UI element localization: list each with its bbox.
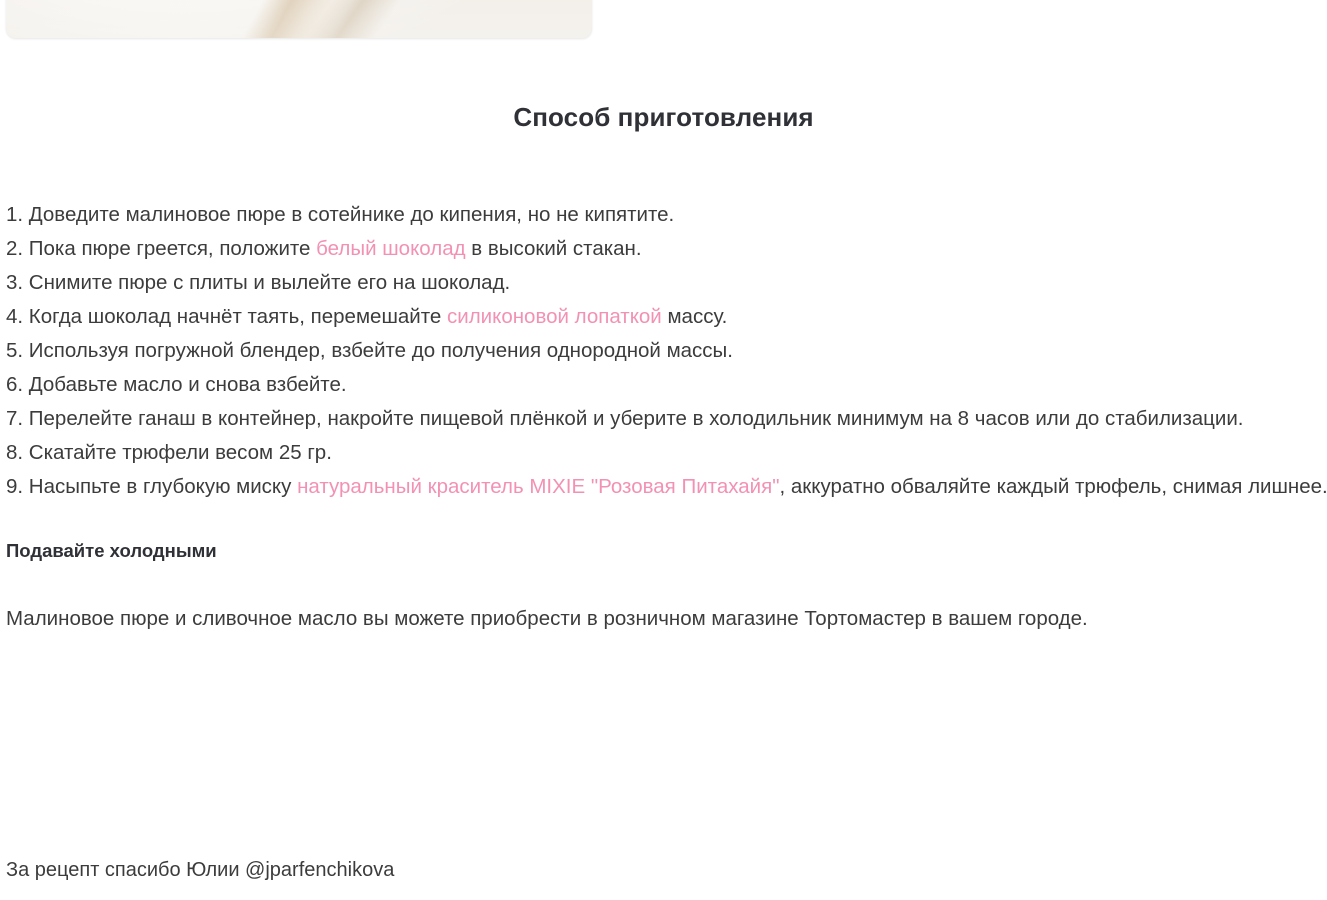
step-text-pre: 4. Когда шоколад начнёт таять, перемешай… [6, 305, 447, 328]
step-text-pre: 5. Используя погружной блендер, взбейте … [6, 339, 733, 362]
step-link[interactable]: белый шоколад [316, 237, 465, 260]
step-text-pre: 8. Скатайте трюфели весом 25 гр. [6, 441, 332, 464]
step-text-post: в высокий стакан. [466, 237, 642, 260]
step-text-pre: 6. Добавьте масло и снова взбейте. [6, 373, 347, 396]
serving-note: Подавайте холодными [6, 536, 1327, 566]
list-item: 6. Добавьте масло и снова взбейте. [6, 368, 1327, 402]
list-item: 9. Насыпьте в глубокую миску натуральный… [6, 470, 1327, 504]
recipe-credit: За рецепт спасибо Юлии @jparfenchikova [6, 856, 394, 884]
list-item: 1. Доведите малиновое пюре в сотейнике д… [6, 198, 1327, 232]
recipe-page: Способ приготовления 1. Доведите малинов… [0, 0, 1327, 900]
hero-image [6, 0, 592, 38]
list-item: 5. Используя погружной блендер, взбейте … [6, 334, 1327, 368]
page-title: Способ приготовления [0, 102, 1327, 133]
step-link[interactable]: силиконовой лопаткой [447, 305, 662, 328]
step-link[interactable]: натуральный краситель MIXIE "Розовая Пит… [297, 475, 779, 498]
step-text-post: , аккуратно обваляйте каждый трюфель, сн… [779, 475, 1327, 498]
step-text-post: массу. [662, 305, 728, 328]
step-text-pre: 9. Насыпьте в глубокую миску [6, 475, 297, 498]
step-text-pre: 7. Перелейте ганаш в контейнер, накройте… [6, 407, 1244, 430]
step-text-pre: 2. Пока пюре греется, положите [6, 237, 316, 260]
store-note: Малиновое пюре и сливочное масло вы може… [6, 602, 1296, 636]
list-item: 3. Снимите пюре с плиты и вылейте его на… [6, 266, 1327, 300]
list-item: 8. Скатайте трюфели весом 25 гр. [6, 436, 1327, 470]
hero-image-sheen [6, 0, 592, 38]
list-item: 4. Когда шоколад начнёт таять, перемешай… [6, 300, 1327, 334]
list-item: 2. Пока пюре греется, положите белый шок… [6, 232, 1327, 266]
recipe-steps-list: 1. Доведите малиновое пюре в сотейнике д… [6, 198, 1327, 636]
step-text-pre: 1. Доведите малиновое пюре в сотейнике д… [6, 203, 674, 226]
list-item: 7. Перелейте ганаш в контейнер, накройте… [6, 402, 1327, 436]
step-text-pre: 3. Снимите пюре с плиты и вылейте его на… [6, 271, 510, 294]
